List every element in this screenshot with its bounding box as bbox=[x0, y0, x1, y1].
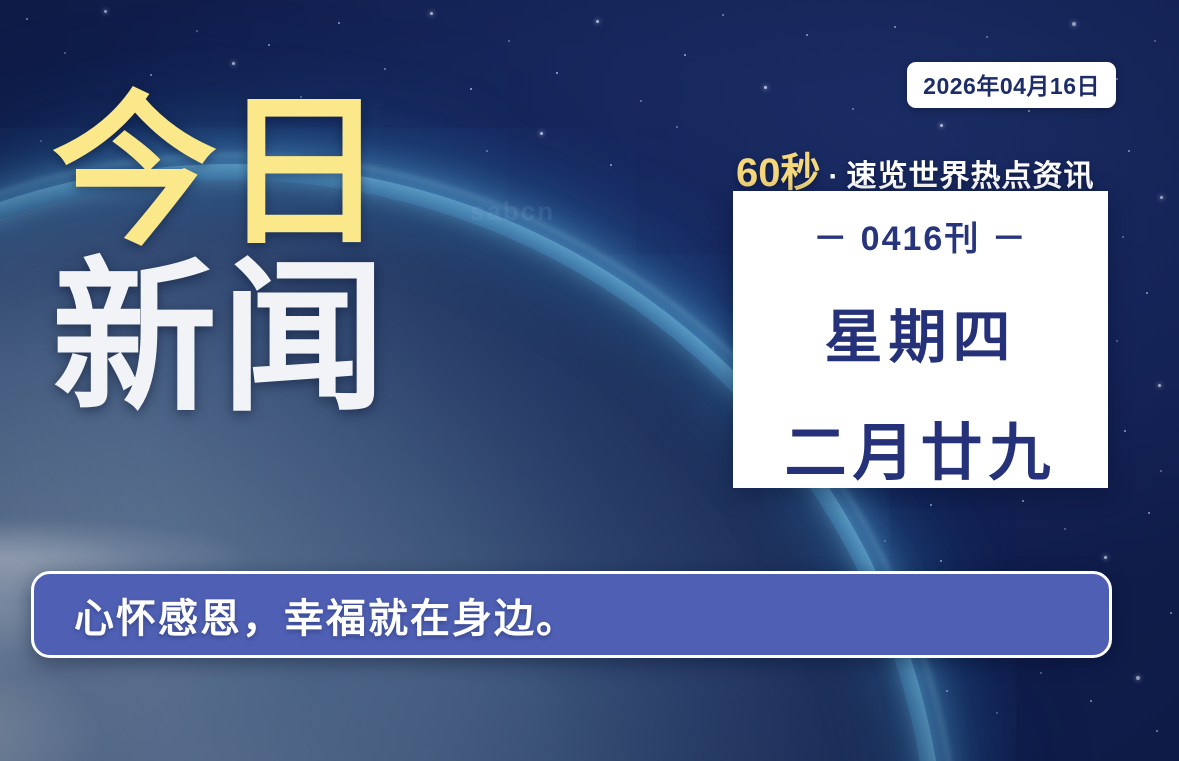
tagline-rest: 速览世界热点资讯 bbox=[847, 151, 1095, 195]
tagline: 60秒 · 速览世界热点资讯 bbox=[736, 140, 1095, 198]
title-line-xinwen: 新闻 bbox=[52, 258, 390, 418]
card-issue-number: － 0416刊 － bbox=[813, 211, 1028, 260]
date-badge: 2026年04月16日 bbox=[907, 62, 1116, 108]
quote-banner: 心怀感恩，幸福就在身边。 bbox=[31, 571, 1112, 658]
news-poster: sabcn 2026年04月16日 今日 新闻 60秒 · 速览世界热点资讯 －… bbox=[0, 0, 1179, 761]
tagline-highlight: 60秒 bbox=[736, 140, 821, 198]
card-weekday: 星期四 bbox=[824, 290, 1016, 374]
title-line-jinri: 今日 bbox=[52, 92, 390, 252]
page-title: 今日 新闻 bbox=[52, 92, 390, 418]
watermark-text: sabcn bbox=[470, 196, 555, 227]
quote-banner-text: 心怀感恩，幸福就在身边。 bbox=[34, 586, 578, 644]
card-lunar-date: 二月廿九 bbox=[784, 402, 1056, 492]
tagline-separator-dot: · bbox=[825, 160, 843, 194]
date-info-card: － 0416刊 － 星期四 二月廿九 bbox=[733, 191, 1108, 488]
